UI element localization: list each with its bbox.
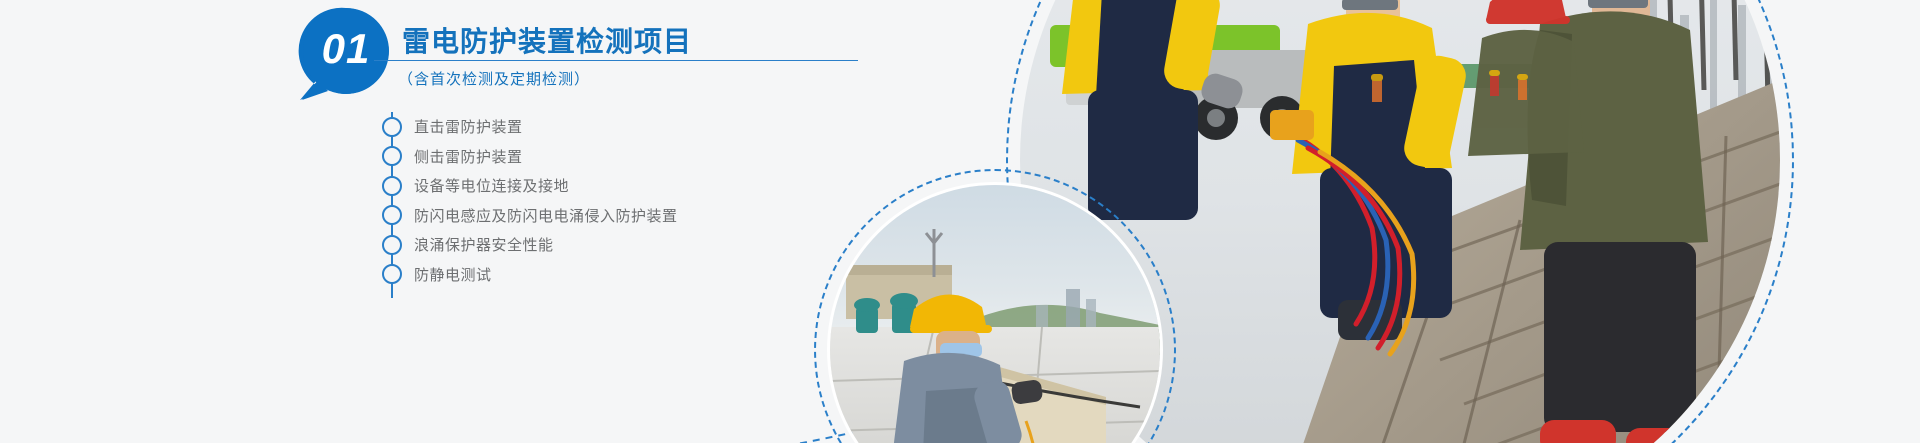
list-item-label: 浪涌保护器安全性能 <box>414 234 554 255</box>
title-divider <box>374 60 858 61</box>
list-item: 防闪电感应及防闪电电涌侵入防护装置 <box>382 201 802 231</box>
inspection-items-timeline: 直击雷防护装置 侧击雷防护装置 设备等电位连接及接地 防闪电感应及防闪电电涌侵入… <box>382 112 802 289</box>
timeline-dot-icon <box>382 264 402 284</box>
list-item-label: 侧击雷防护装置 <box>414 146 523 167</box>
list-item: 浪涌保护器安全性能 <box>382 230 802 260</box>
list-item: 设备等电位连接及接地 <box>382 171 802 201</box>
list-item-label: 防静电测试 <box>414 264 492 285</box>
page-subtitle: （含首次检测及定期检测） <box>398 68 590 89</box>
photo-composition <box>1020 0 1920 443</box>
timeline-dot-icon <box>382 205 402 225</box>
list-item-label: 防闪电感应及防闪电电涌侵入防护装置 <box>414 205 678 226</box>
list-item: 直击雷防护装置 <box>382 112 802 142</box>
page-title: 雷电防护装置检测项目 <box>402 20 692 60</box>
timeline-dot-icon <box>382 235 402 255</box>
banner-content: 01 雷电防护装置检测项目 （含首次检测及定期检测） 直击雷防护装置 侧击雷防护… <box>0 0 900 443</box>
list-item: 防静电测试 <box>382 260 802 290</box>
list-item-label: 直击雷防护装置 <box>414 116 523 137</box>
list-item: 侧击雷防护装置 <box>382 142 802 172</box>
timeline-dot-icon <box>382 176 402 196</box>
list-item-label: 设备等电位连接及接地 <box>414 175 569 196</box>
step-badge: 01 <box>298 6 394 102</box>
timeline-dot-icon <box>382 117 402 137</box>
timeline-dot-icon <box>382 146 402 166</box>
lightning-protection-banner: 01 雷电防护装置检测项目 （含首次检测及定期检测） 直击雷防护装置 侧击雷防护… <box>0 0 1920 443</box>
badge-number: 01 <box>298 6 394 92</box>
